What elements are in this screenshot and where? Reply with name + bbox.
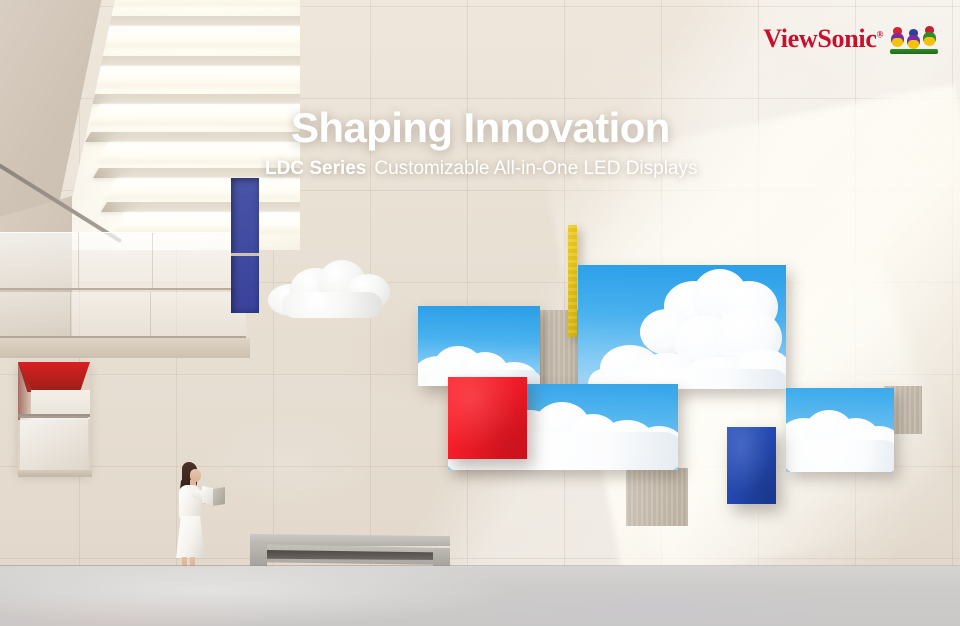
- brand-name: ViewSonic: [763, 24, 876, 53]
- woman-reading: [166, 462, 212, 578]
- logo-perch: [890, 49, 938, 54]
- led-panel-left-sky[interactable]: [418, 306, 540, 386]
- lobby-floor: [0, 566, 960, 626]
- three-gouldian-finches-logo-mark: [890, 24, 938, 54]
- led-panel-main-sky[interactable]: [578, 265, 786, 389]
- concrete-slab-lower: [626, 468, 688, 526]
- bench-seat: [250, 534, 450, 546]
- series-label: LDC Series: [265, 158, 366, 179]
- viewsonic-logo[interactable]: ViewSonic®: [763, 24, 938, 54]
- led-panel-blue[interactable]: [727, 427, 776, 504]
- finch-center-icon: [907, 29, 920, 49]
- led-panel-right-sky[interactable]: [786, 388, 894, 472]
- tagline: Customizable All-in-One LED Displays: [374, 158, 697, 179]
- finch-right-icon: [923, 26, 936, 49]
- viewsonic-wordmark: ViewSonic®: [763, 26, 883, 52]
- led-bar-yellow[interactable]: [568, 225, 577, 337]
- hero-banner: Shaping Innovation LDC SeriesCustomizabl…: [0, 0, 960, 626]
- dress-skirt: [176, 516, 205, 558]
- hero-subtitle: LDC SeriesCustomizable All-in-One LED Di…: [265, 158, 698, 180]
- registered-mark: ®: [877, 29, 883, 39]
- led-panel-red[interactable]: [448, 377, 527, 459]
- concrete-bench: [250, 534, 450, 569]
- floor-reflection: [0, 566, 960, 626]
- led-video-wall-cluster: [0, 0, 960, 566]
- open-book: [202, 487, 224, 504]
- finch-left-icon: [891, 27, 904, 49]
- page-title: Shaping Innovation: [291, 104, 670, 152]
